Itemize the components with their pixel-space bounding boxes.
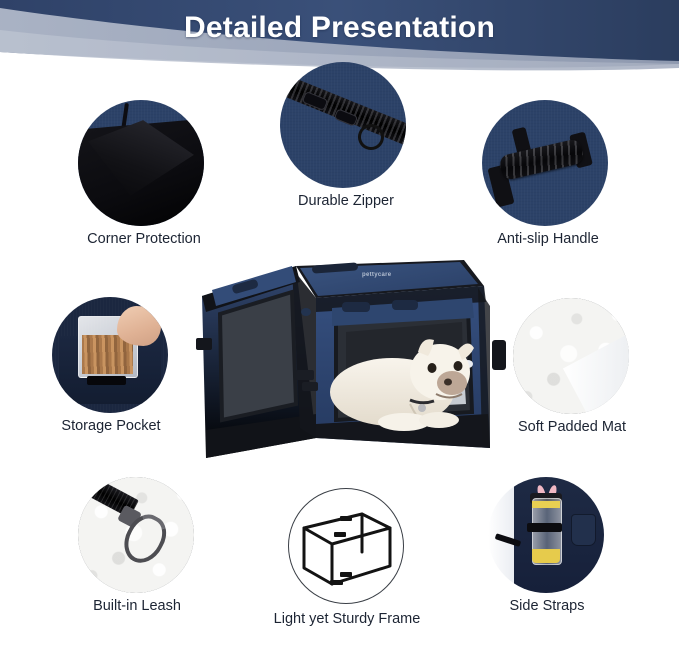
caption-side-straps: Side Straps — [454, 599, 640, 615]
corner-protection-image — [78, 100, 204, 226]
frame-wireframe-icon — [288, 488, 404, 604]
side-straps-image — [488, 477, 604, 593]
caption-corner-protection: Corner Protection — [48, 232, 240, 248]
feature-side-straps[interactable]: Side Straps — [488, 477, 606, 622]
bottle-top-accent — [532, 501, 560, 508]
feature-durable-zipper[interactable]: Durable Zipper — [280, 62, 412, 212]
bottle-liquid — [532, 549, 560, 563]
side-pocket — [572, 515, 595, 545]
brand-logo: pettycare — [362, 272, 391, 278]
caption-durable-zipper: Durable Zipper — [250, 194, 442, 210]
light-sturdy-frame-image — [288, 488, 404, 604]
infographic-page: Detailed Presentation Corner Protection … — [0, 0, 679, 650]
soft-padded-mat-image — [513, 298, 629, 414]
hand — [117, 306, 161, 345]
caption-storage-pocket: Storage Pocket — [18, 419, 204, 435]
pocket-opening — [87, 376, 126, 385]
page-title: Detailed Presentation — [0, 11, 679, 45]
dog-crate-illustration — [196, 252, 508, 484]
product-image: pettycare — [196, 252, 508, 484]
feature-soft-padded-mat[interactable]: Soft Padded Mat — [513, 298, 631, 443]
feature-built-in-leash[interactable]: Built-in Leash — [78, 477, 196, 622]
feature-light-sturdy-frame[interactable]: Light yet Sturdy Frame — [288, 488, 406, 638]
storage-pocket-image — [52, 297, 168, 413]
feature-anti-slip-handle[interactable]: Anti-slip Handle — [482, 100, 614, 250]
durable-zipper-image — [280, 62, 406, 188]
caption-light-sturdy-frame: Light yet Sturdy Frame — [244, 612, 450, 628]
elastic-side-strap — [527, 523, 562, 531]
feature-storage-pocket[interactable]: Storage Pocket — [52, 297, 170, 442]
anti-slip-handle-image — [482, 100, 608, 226]
built-in-leash-image — [78, 477, 194, 593]
caption-anti-slip-handle: Anti-slip Handle — [452, 232, 644, 248]
caption-built-in-leash: Built-in Leash — [44, 599, 230, 615]
feature-corner-protection[interactable]: Corner Protection — [78, 100, 210, 250]
